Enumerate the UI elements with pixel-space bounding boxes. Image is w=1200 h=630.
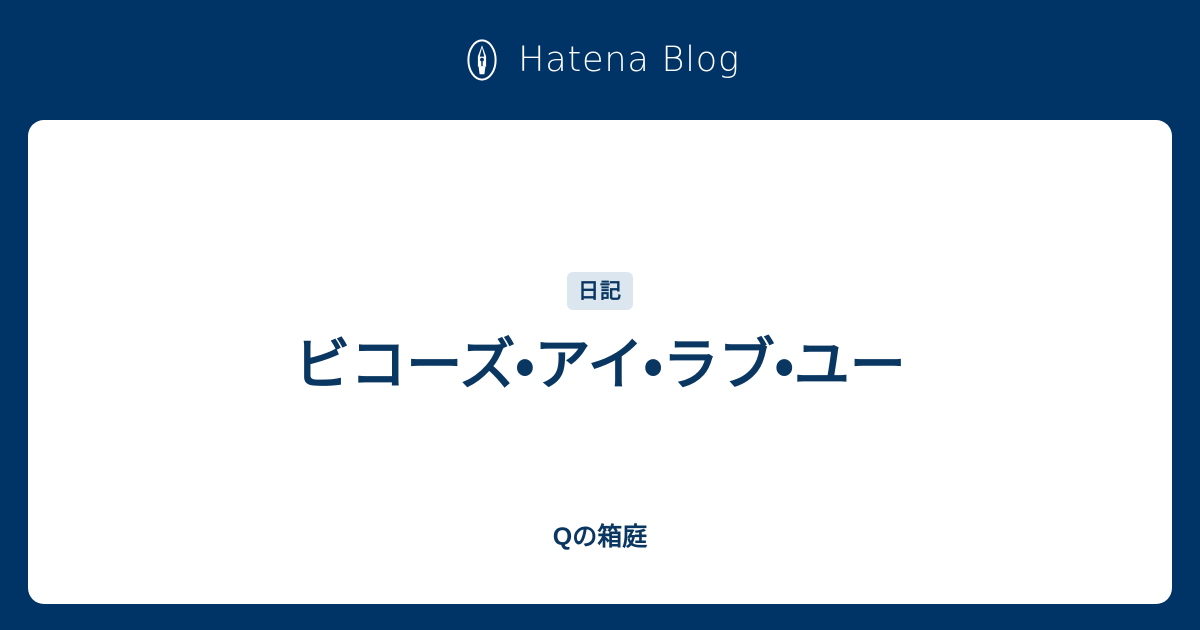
blog-name: Qの箱庭 — [28, 522, 1172, 552]
fountain-pen-nib-circle-icon — [460, 38, 504, 82]
entry-card: 日記 ビコーズ・アイ・ラブ・ユー Qの箱庭 — [28, 120, 1172, 604]
entry-block: 日記 ビコーズ・アイ・ラブ・ユー — [28, 120, 1172, 550]
entry-title: ビコーズ・アイ・ラブ・ユー — [294, 332, 906, 398]
hatena-blog-ogp-card: Hatena Blog 日記 ビコーズ・アイ・ラブ・ユー Qの箱庭 — [0, 0, 1200, 630]
category-badge: 日記 — [567, 272, 633, 310]
brand-header: Hatena Blog — [0, 0, 1200, 120]
brand-wordmark: Hatena Blog — [518, 43, 740, 78]
